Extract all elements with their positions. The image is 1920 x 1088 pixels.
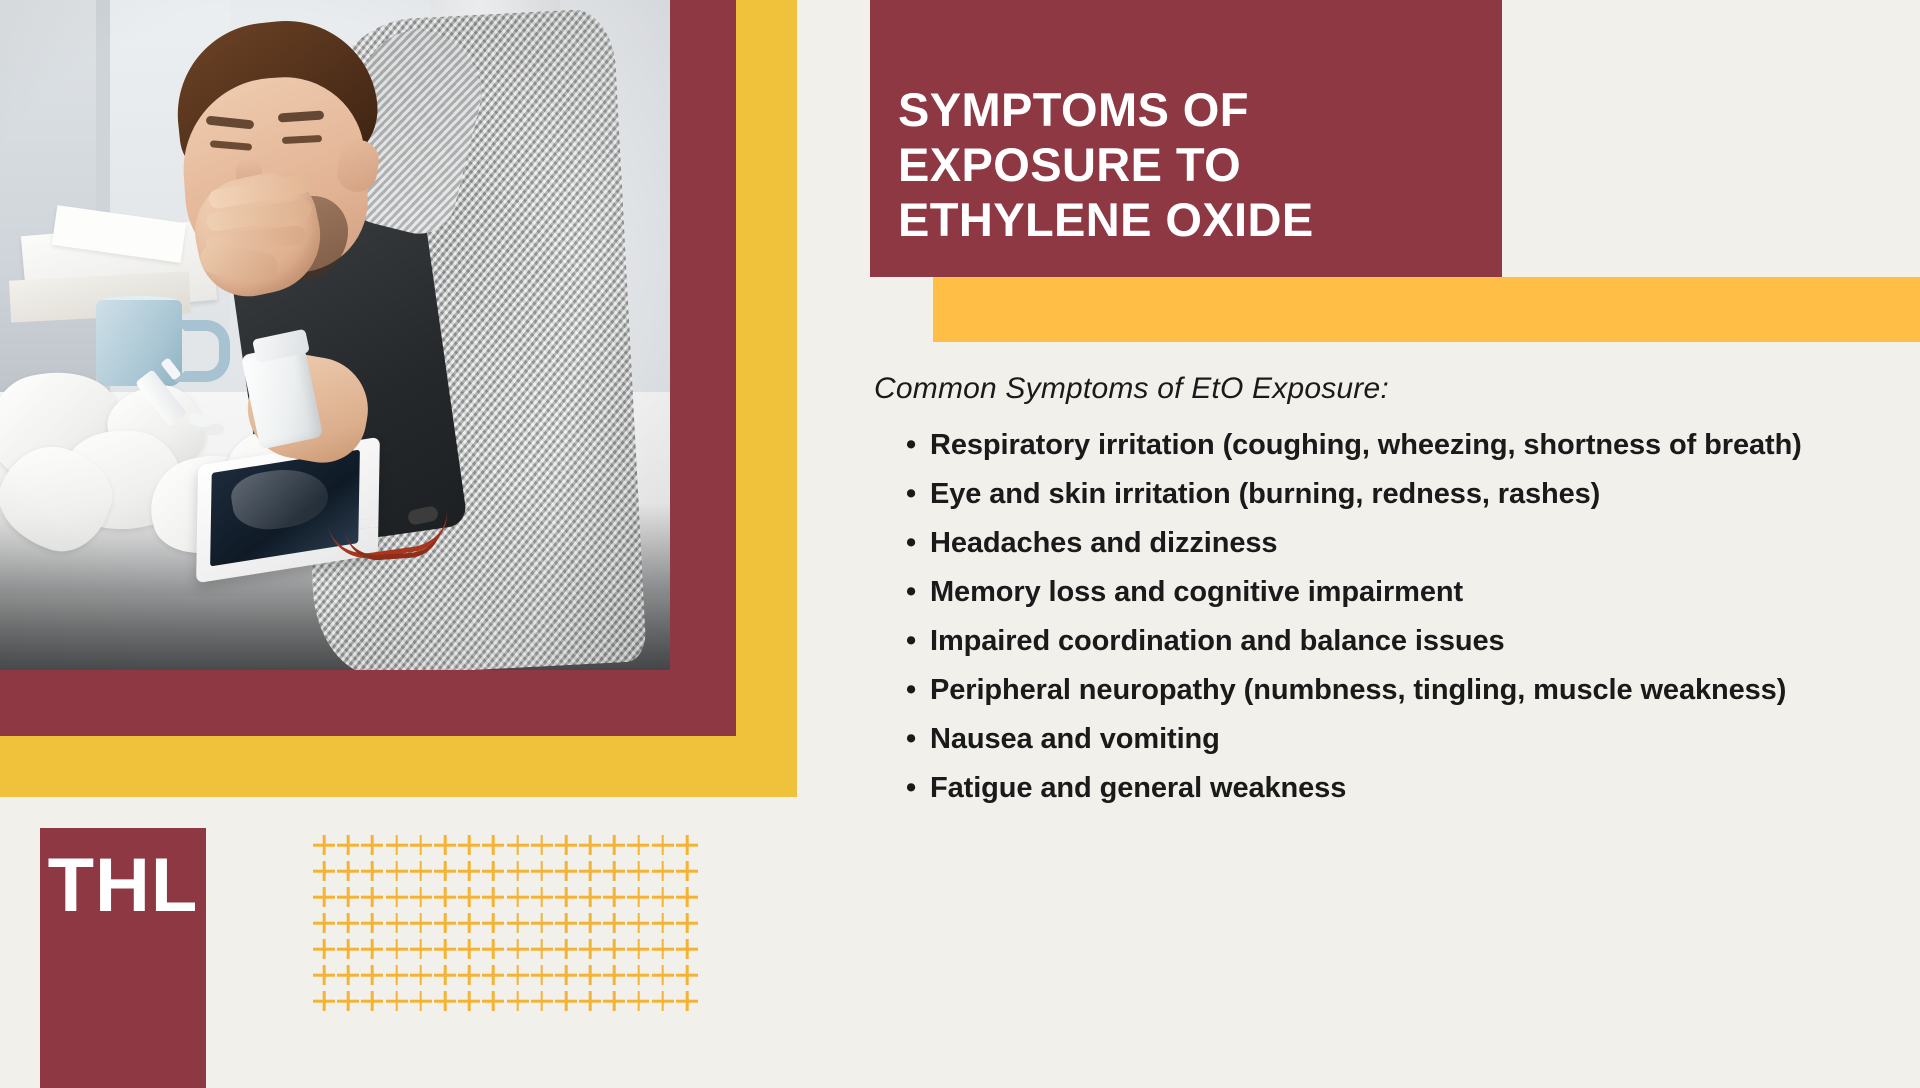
plus-icon <box>360 936 384 962</box>
plus-icon <box>409 832 433 858</box>
plus-icon <box>554 884 578 910</box>
plus-icon <box>530 858 554 884</box>
plus-icon <box>530 884 554 910</box>
plus-icon <box>336 962 360 988</box>
plus-icon <box>481 910 505 936</box>
plus-icon <box>578 936 602 962</box>
hero-photo-sick-man <box>0 0 670 670</box>
plus-icon <box>554 910 578 936</box>
plus-icon <box>360 884 384 910</box>
plus-icon <box>602 962 626 988</box>
plus-icon <box>433 858 457 884</box>
plus-icon <box>385 910 409 936</box>
symptom-list-item: Eye and skin irritation (burning, rednes… <box>868 471 1868 518</box>
plus-icon <box>651 910 675 936</box>
plus-icon <box>506 962 530 988</box>
plus-icon <box>602 858 626 884</box>
header-accent-bar <box>933 277 1920 342</box>
plus-icon <box>506 832 530 858</box>
symptom-list-item: Headaches and dizziness <box>868 520 1868 567</box>
plus-icon <box>675 988 699 1014</box>
plus-icon <box>626 858 650 884</box>
plus-icon <box>602 832 626 858</box>
content-subtitle: Common Symptoms of EtO Exposure: <box>874 372 1868 406</box>
plus-icon <box>675 962 699 988</box>
plus-icon <box>602 910 626 936</box>
plus-icon <box>530 936 554 962</box>
plus-pattern-decoration <box>312 832 699 1014</box>
plus-icon <box>457 884 481 910</box>
plus-icon <box>336 884 360 910</box>
symptom-list-item: Nausea and vomiting <box>868 716 1868 763</box>
plus-icon <box>675 832 699 858</box>
plus-icon <box>360 988 384 1014</box>
symptoms-list: Respiratory irritation (coughing, wheezi… <box>868 422 1868 812</box>
plus-icon <box>457 962 481 988</box>
plus-icon <box>360 858 384 884</box>
plus-icon <box>457 988 481 1014</box>
plus-icon <box>385 988 409 1014</box>
plus-icon <box>409 858 433 884</box>
plus-icon <box>626 962 650 988</box>
plus-icon <box>409 884 433 910</box>
plus-icon <box>481 858 505 884</box>
plus-icon <box>385 962 409 988</box>
plus-icon <box>602 936 626 962</box>
plus-icon <box>530 988 554 1014</box>
symptoms-content-panel: Common Symptoms of EtO Exposure: Respira… <box>868 372 1868 814</box>
plus-icon <box>626 910 650 936</box>
plus-icon <box>433 962 457 988</box>
plus-icon <box>578 910 602 936</box>
plus-icon <box>554 988 578 1014</box>
plus-icon <box>626 884 650 910</box>
plus-icon <box>675 858 699 884</box>
plus-icon <box>675 936 699 962</box>
plus-icon <box>409 936 433 962</box>
plus-icon <box>312 858 336 884</box>
symptom-list-item: Memory loss and cognitive impairment <box>868 569 1868 616</box>
plus-icon <box>409 962 433 988</box>
plus-icon <box>457 910 481 936</box>
plus-icon <box>481 884 505 910</box>
plus-icon <box>433 988 457 1014</box>
plus-icon <box>651 988 675 1014</box>
header-banner: SYMPTOMS OF EXPOSURE TO ETHYLENE OXIDE <box>870 0 1502 277</box>
plus-icon <box>433 936 457 962</box>
plus-icon <box>651 936 675 962</box>
plus-icon <box>433 832 457 858</box>
plus-icon <box>312 988 336 1014</box>
plus-icon <box>481 936 505 962</box>
plus-icon <box>360 962 384 988</box>
plus-icon <box>602 884 626 910</box>
plus-icon <box>530 910 554 936</box>
plus-icon <box>506 988 530 1014</box>
plus-icon <box>385 936 409 962</box>
plus-icon <box>602 988 626 1014</box>
plus-icon <box>530 832 554 858</box>
symptom-list-item: Peripheral neuropathy (numbness, tinglin… <box>868 667 1868 714</box>
plus-icon <box>433 910 457 936</box>
plus-icon <box>360 910 384 936</box>
plus-icon <box>651 962 675 988</box>
symptom-list-item: Fatigue and general weakness <box>868 765 1868 812</box>
plus-icon <box>312 910 336 936</box>
plus-icon <box>312 884 336 910</box>
plus-icon <box>626 936 650 962</box>
plus-icon <box>578 858 602 884</box>
plus-icon <box>312 962 336 988</box>
symptom-list-item: Impaired coordination and balance issues <box>868 618 1868 665</box>
thl-logo-text: THL <box>40 848 206 924</box>
plus-icon <box>336 910 360 936</box>
plus-icon <box>554 936 578 962</box>
plus-icon <box>336 858 360 884</box>
photo-vignette <box>0 0 670 670</box>
page-title: SYMPTOMS OF EXPOSURE TO ETHYLENE OXIDE <box>898 83 1484 247</box>
plus-icon <box>506 858 530 884</box>
plus-icon <box>675 910 699 936</box>
plus-icon <box>457 936 481 962</box>
plus-icon <box>651 832 675 858</box>
plus-icon <box>433 884 457 910</box>
plus-icon <box>578 832 602 858</box>
plus-icon <box>626 832 650 858</box>
plus-icon <box>336 988 360 1014</box>
plus-icon <box>626 988 650 1014</box>
plus-icon <box>554 832 578 858</box>
plus-icon <box>481 832 505 858</box>
plus-icon <box>385 884 409 910</box>
plus-icon <box>409 988 433 1014</box>
plus-icon <box>481 988 505 1014</box>
plus-icon <box>578 988 602 1014</box>
plus-icon <box>506 910 530 936</box>
plus-icon <box>651 858 675 884</box>
plus-icon <box>651 884 675 910</box>
plus-icon <box>481 962 505 988</box>
plus-icon <box>506 936 530 962</box>
plus-icon <box>312 832 336 858</box>
plus-icon <box>312 936 336 962</box>
plus-icon <box>457 832 481 858</box>
plus-icon <box>409 910 433 936</box>
plus-icon <box>578 962 602 988</box>
plus-icon <box>554 858 578 884</box>
plus-icon <box>506 884 530 910</box>
plus-icon <box>578 884 602 910</box>
plus-icon <box>457 858 481 884</box>
symptom-list-item: Respiratory irritation (coughing, wheezi… <box>868 422 1868 469</box>
plus-icon <box>360 832 384 858</box>
plus-icon <box>336 936 360 962</box>
plus-icon <box>385 832 409 858</box>
plus-icon <box>385 858 409 884</box>
plus-icon <box>336 832 360 858</box>
thl-logo: THL <box>40 828 206 1088</box>
plus-icon <box>554 962 578 988</box>
plus-icon <box>530 962 554 988</box>
plus-icon <box>675 884 699 910</box>
